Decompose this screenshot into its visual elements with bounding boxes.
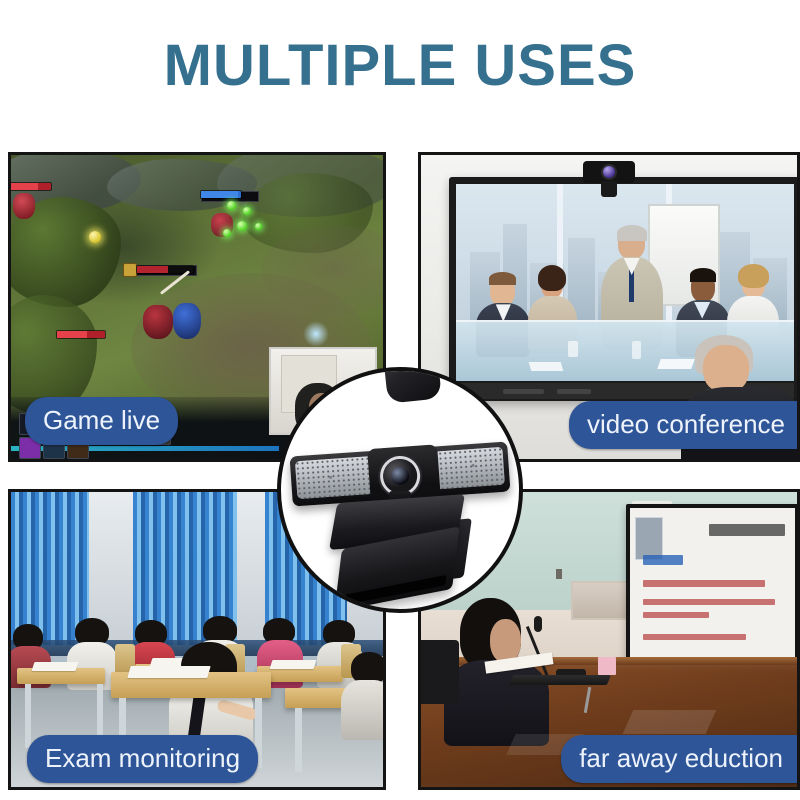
- document-on-table: [529, 362, 564, 371]
- person-head: [703, 345, 749, 393]
- game-champion: [13, 193, 35, 219]
- game-ability-effect: [303, 321, 329, 347]
- badge-video-conference: video conference: [569, 401, 800, 449]
- exam-paper: [32, 662, 79, 671]
- game-orb: [223, 229, 231, 237]
- person-hair: [690, 268, 716, 282]
- game-orb: [89, 231, 101, 243]
- desk-reflection: [623, 710, 716, 734]
- water-glass: [632, 341, 641, 359]
- person-hair: [489, 272, 516, 285]
- webcam-mount: [601, 181, 617, 197]
- exam-paper: [127, 666, 210, 678]
- webcam-icon: [583, 161, 635, 183]
- badge-game-live: Game live: [25, 397, 178, 445]
- slide-body-text: [643, 634, 745, 640]
- game-level-icon: [123, 263, 137, 277]
- microphone-head: [534, 616, 542, 632]
- desk-leg: [25, 684, 31, 748]
- wall-switch: [556, 569, 562, 579]
- product-highlight-circle: [277, 367, 523, 613]
- game-champion: [173, 303, 201, 339]
- badge-exam-monitoring: Exam monitoring: [27, 735, 258, 783]
- presentation-tv[interactable]: [626, 504, 797, 669]
- webcam-privacy-hood: [382, 367, 442, 404]
- game-orb: [255, 223, 262, 230]
- camera-lens-icon: [603, 166, 615, 178]
- badge-far-away-education: far away eduction: [561, 735, 800, 783]
- game-orb: [237, 221, 247, 231]
- tv-screen: [630, 508, 795, 665]
- chair-back: [421, 640, 459, 705]
- slide-subtitle-text: [643, 555, 683, 564]
- speaker-grille-left: [295, 456, 375, 499]
- desk-leg: [295, 708, 302, 772]
- lens-glass: [391, 466, 410, 485]
- camera-lens-icon: [382, 458, 418, 494]
- person-hair: [617, 225, 647, 241]
- webcam-product-image: [281, 371, 523, 613]
- person-hair: [538, 265, 566, 291]
- person-hair: [738, 264, 768, 288]
- slide-body-text: [643, 599, 775, 605]
- poster-canvas: MULTIPLE USES: [0, 0, 800, 800]
- water-glass: [568, 341, 578, 357]
- student-torso: [341, 680, 383, 740]
- display-speaker: [557, 389, 591, 394]
- exam-paper: [270, 660, 317, 669]
- slide-title-text: [709, 524, 785, 537]
- slide-thumbnail: [635, 517, 663, 560]
- game-champion: [143, 305, 173, 339]
- slide-body-text: [643, 612, 709, 618]
- game-health-bar: [201, 191, 241, 198]
- slide-body-text: [643, 580, 765, 586]
- game-orb: [243, 207, 251, 215]
- teacher-body: [444, 660, 549, 746]
- page-title: MULTIPLE USES: [0, 36, 800, 97]
- game-health-bar: [57, 331, 105, 338]
- student: [341, 652, 383, 752]
- name-card: [598, 657, 616, 675]
- keyboard[interactable]: [509, 675, 611, 685]
- game-health-bar: [11, 183, 51, 190]
- game-orb: [227, 201, 236, 210]
